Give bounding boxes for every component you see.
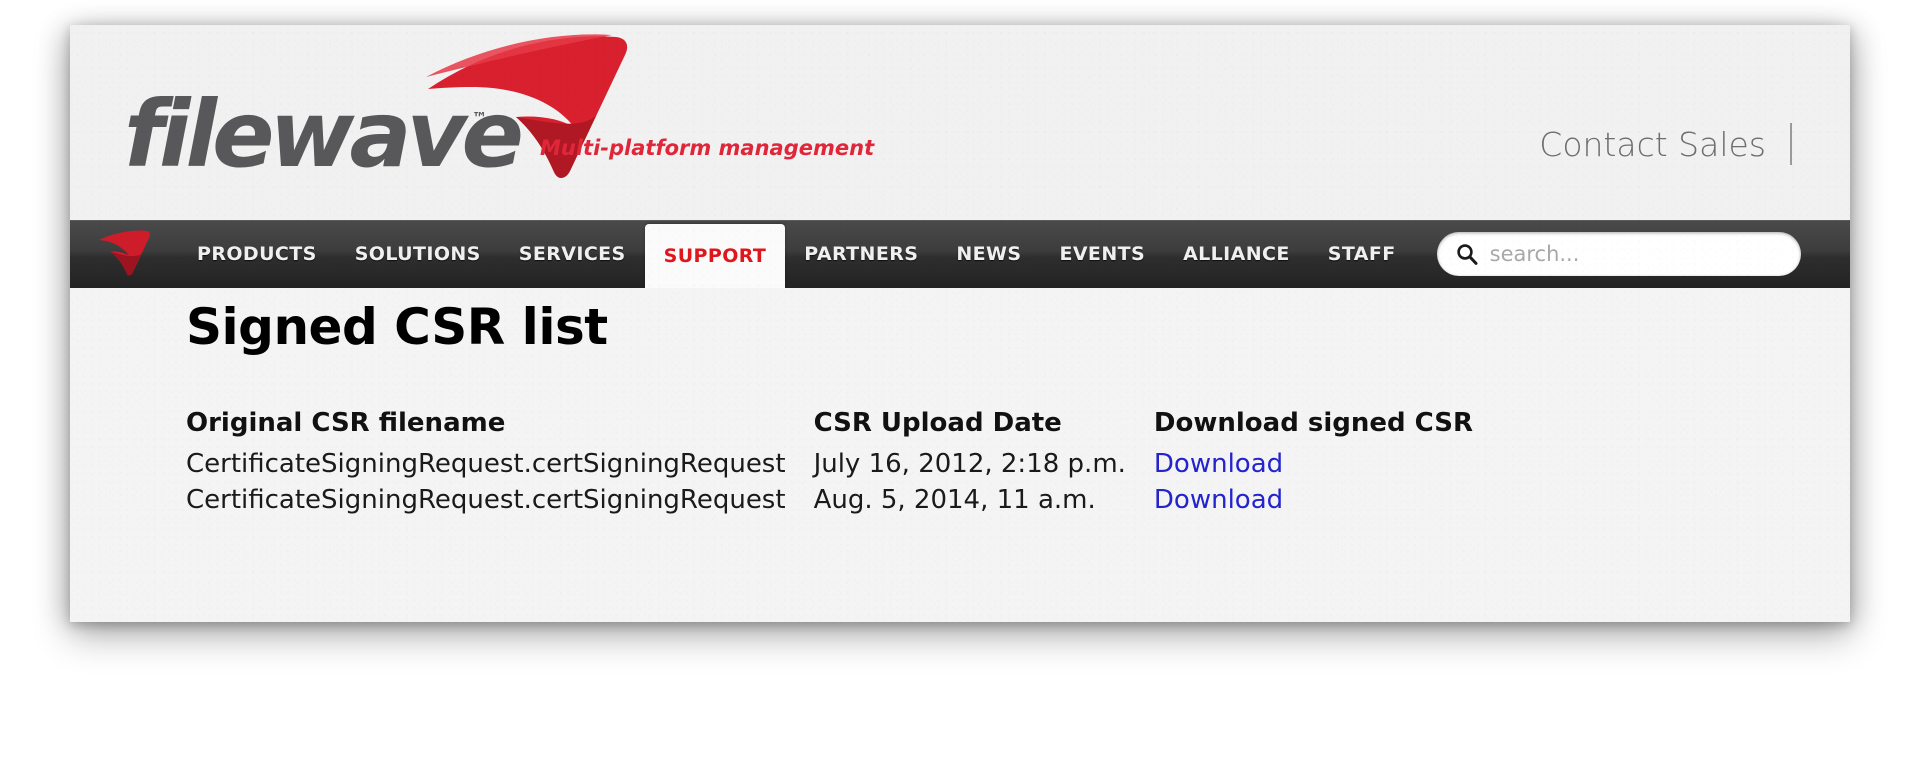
column-header-upload-date: CSR Upload Date xyxy=(814,408,1154,447)
brand-tagline: Multi-platform management xyxy=(540,136,874,160)
nav-label: ALLIANCE xyxy=(1183,243,1290,265)
table-header-row: Original CSR filename CSR Upload Date Do… xyxy=(186,408,1501,447)
search-box[interactable]: search... xyxy=(1437,232,1801,276)
nav-label: STAFF xyxy=(1328,243,1396,265)
nav-label: SERVICES xyxy=(519,243,626,265)
filewave-logo[interactable]: filewave ™ Multi-platform management xyxy=(120,31,840,211)
signed-csr-table: Original CSR filename CSR Upload Date Do… xyxy=(186,408,1501,519)
nav-item-support[interactable]: SUPPORT xyxy=(645,224,786,288)
table-row: CertificateSigningRequest.certSigningReq… xyxy=(186,483,1501,519)
nav-label: SOLUTIONS xyxy=(355,243,481,265)
desktop-background: filewave ™ Multi-platform management Con… xyxy=(0,0,1922,784)
contact-sales-link[interactable]: Contact Sales xyxy=(1539,125,1766,164)
nav-item-events[interactable]: EVENTS xyxy=(1040,220,1164,288)
utility-nav-divider xyxy=(1790,123,1792,165)
nav-label: PARTNERS xyxy=(804,243,918,265)
browser-viewport: filewave ™ Multi-platform management Con… xyxy=(70,25,1850,622)
table-row: CertificateSigningRequest.certSigningReq… xyxy=(186,447,1501,483)
column-header-download: Download signed CSR xyxy=(1154,408,1501,447)
utility-nav: Contact Sales xyxy=(1539,123,1792,165)
nav-label: SUPPORT xyxy=(664,245,767,267)
nav-item-products[interactable]: PRODUCTS xyxy=(178,220,336,288)
search-icon xyxy=(1455,242,1479,266)
site-masthead: filewave ™ Multi-platform management Con… xyxy=(70,25,1850,220)
nav-label: NEWS xyxy=(956,243,1021,265)
column-header-filename: Original CSR filename xyxy=(186,408,814,447)
page-content: Signed CSR list Original CSR filename CS… xyxy=(70,288,1850,622)
nav-item-alliance[interactable]: ALLIANCE xyxy=(1164,220,1309,288)
nav-item-news[interactable]: NEWS xyxy=(937,220,1040,288)
nav-label: PRODUCTS xyxy=(197,243,317,265)
nav-home-logo[interactable] xyxy=(70,220,178,288)
cell-upload-date: Aug. 5, 2014, 11 a.m. xyxy=(814,483,1154,519)
nav-item-solutions[interactable]: SOLUTIONS xyxy=(336,220,500,288)
page-title: Signed CSR list xyxy=(186,298,608,356)
cell-download: Download xyxy=(1154,447,1501,483)
download-link[interactable]: Download xyxy=(1154,449,1283,479)
nav-item-partners[interactable]: PARTNERS xyxy=(785,220,937,288)
cell-filename: CertificateSigningRequest.certSigningReq… xyxy=(186,447,814,483)
wordmark-text: filewave xyxy=(124,89,519,181)
main-navigation-bar: PRODUCTS SOLUTIONS SERVICES SUPPORT PART… xyxy=(70,220,1850,288)
trademark-symbol: ™ xyxy=(472,109,487,127)
cell-upload-date: July 16, 2012, 2:18 p.m. xyxy=(814,447,1154,483)
nav-label: EVENTS xyxy=(1059,243,1145,265)
filewave-bird-icon xyxy=(97,229,151,279)
nav-item-staff[interactable]: STAFF xyxy=(1309,220,1415,288)
nav-item-services[interactable]: SERVICES xyxy=(500,220,645,288)
cell-filename: CertificateSigningRequest.certSigningReq… xyxy=(186,483,814,519)
search-input[interactable]: search... xyxy=(1490,242,1580,266)
cell-download: Download xyxy=(1154,483,1501,519)
download-link[interactable]: Download xyxy=(1154,485,1283,515)
